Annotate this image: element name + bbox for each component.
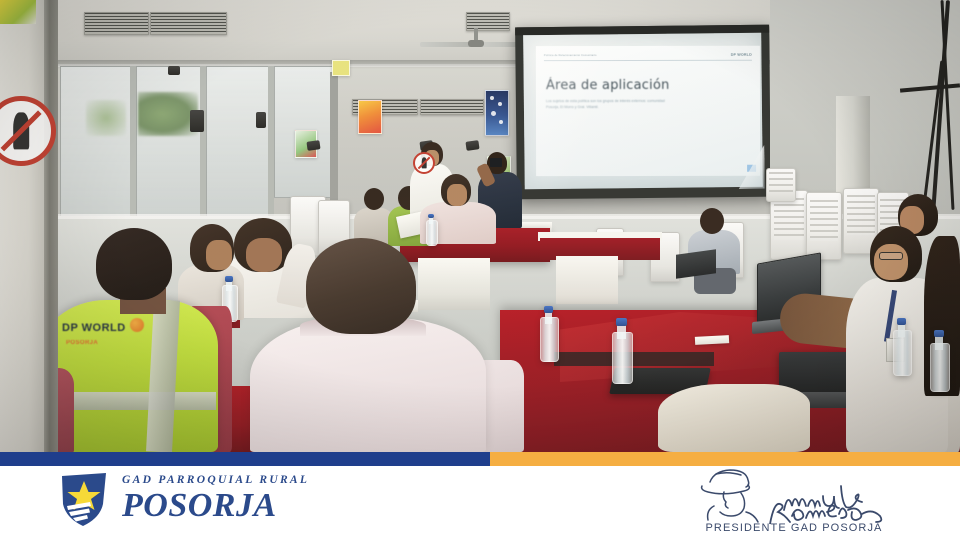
branding-footer: GAD PARROQUIAL RURAL POSORJA	[0, 452, 960, 540]
shield-star-logo	[56, 470, 112, 528]
attendee-head	[364, 188, 384, 210]
smartphone-icon	[490, 158, 502, 167]
eyeglasses-icon	[879, 252, 903, 260]
water-bottle	[893, 318, 910, 376]
wall-poster	[0, 0, 36, 24]
brand-wordmark: GAD PARROQUIAL RURAL POSORJA	[122, 475, 309, 523]
no-smoking-icon	[413, 152, 435, 174]
attendee-face	[246, 238, 282, 272]
projection-screen: Política de Relacionamiento Comunitario …	[515, 25, 771, 200]
glass-partition	[60, 66, 134, 218]
screenshot-root: Política de Relacionamiento Comunitario …	[0, 0, 960, 540]
meeting-photograph: Política de Relacionamiento Comunitario …	[0, 0, 960, 452]
light-cushion	[658, 384, 810, 452]
color-bar-orange	[490, 452, 960, 466]
wall-speaker	[306, 140, 320, 151]
dp-world-globe-icon	[130, 318, 144, 332]
color-bar-blue	[0, 452, 490, 466]
shield-star-icon	[56, 470, 112, 528]
color-bar	[0, 452, 960, 466]
ceiling-vent-icon	[466, 12, 510, 31]
window-mullion	[130, 66, 136, 216]
table-white-skirt	[418, 258, 490, 310]
pillar-edge	[44, 0, 58, 452]
attendee-face	[206, 240, 232, 270]
brand-title: POSORJA	[122, 489, 309, 523]
vest-sublabel: POSORJA	[66, 340, 98, 346]
water-bottle	[930, 330, 948, 392]
window-mullion	[200, 66, 206, 216]
glass-partition	[206, 66, 272, 218]
ceiling-fan-hub	[468, 40, 484, 47]
water-bottle	[612, 318, 631, 384]
attendee-head	[700, 208, 724, 234]
table-shadow	[554, 352, 714, 366]
man-with-hat-line-portrait-icon	[684, 466, 904, 524]
hivis-worker-head	[96, 228, 172, 300]
ceiling-vent-icon	[150, 12, 227, 35]
ceiling-fan-blade	[420, 42, 474, 47]
water-bottle	[540, 306, 557, 362]
wall-speaker	[465, 140, 479, 151]
outdoor-greenery	[86, 100, 126, 136]
wall-artwork	[485, 90, 509, 136]
foreground-man-white-shirt	[250, 318, 486, 452]
gad-posorja-logo-lockup: GAD PARROQUIAL RURAL POSORJA	[56, 470, 309, 528]
window-mullion	[268, 66, 274, 216]
wall-speaker	[168, 66, 180, 75]
brand-subtitle: GAD PARROQUIAL RURAL	[122, 475, 309, 487]
wall-vent-icon	[420, 99, 484, 115]
stacked-plastic-chairs	[806, 192, 842, 260]
wall-artwork	[332, 60, 350, 76]
ceiling-vent-icon	[84, 12, 149, 35]
wall-artwork	[358, 100, 382, 134]
attendee-face	[874, 244, 908, 280]
foreground-man-head	[306, 238, 416, 334]
attendee-face	[447, 184, 467, 206]
stacked-plastic-chairs	[766, 168, 796, 202]
president-signature-block: PRESIDENTE GAD POSORJA	[684, 466, 904, 536]
screen-glare	[523, 33, 763, 189]
water-bottle	[426, 214, 436, 246]
wall-speaker	[256, 112, 266, 128]
president-caption: PRESIDENTE GAD POSORJA	[684, 522, 904, 534]
open-door-edge	[330, 72, 338, 202]
wall-speaker	[190, 110, 204, 132]
table-white-skirt	[556, 256, 618, 304]
glass-partition	[136, 66, 204, 218]
outdoor-greenery	[138, 92, 198, 136]
